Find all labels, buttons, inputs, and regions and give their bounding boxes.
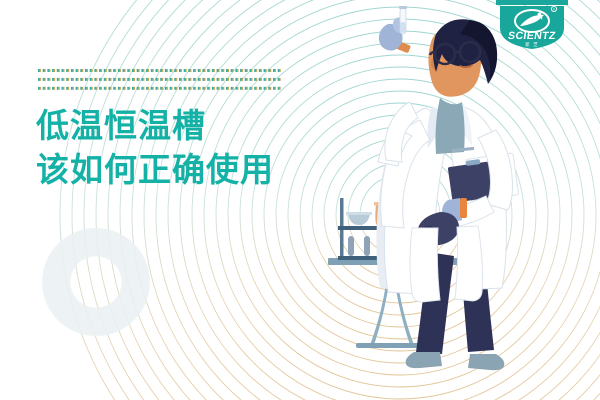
head [428, 19, 497, 96]
headline-line-1: 低温恒温槽 [36, 104, 336, 148]
headline-line-2: 该如何正确使用 [36, 148, 336, 192]
banner-canvas: 低温恒温槽 该如何正确使用 [0, 0, 600, 400]
shirt [436, 98, 465, 154]
logo-top-bar [496, 0, 568, 5]
logo-wordmark: SCIENTZ [507, 30, 557, 42]
dot-grid-decoration [38, 69, 281, 95]
logo-shield: R SCIENTZ 新 芝 [496, 0, 568, 50]
decorative-ring [42, 228, 150, 336]
brand-logo[interactable]: R SCIENTZ 新 芝 [496, 0, 568, 50]
scientist-illustration [300, 0, 600, 400]
headline-block: 低温恒温槽 该如何正确使用 [36, 104, 336, 192]
logo-wordmark-cn: 新 芝 [525, 41, 538, 48]
